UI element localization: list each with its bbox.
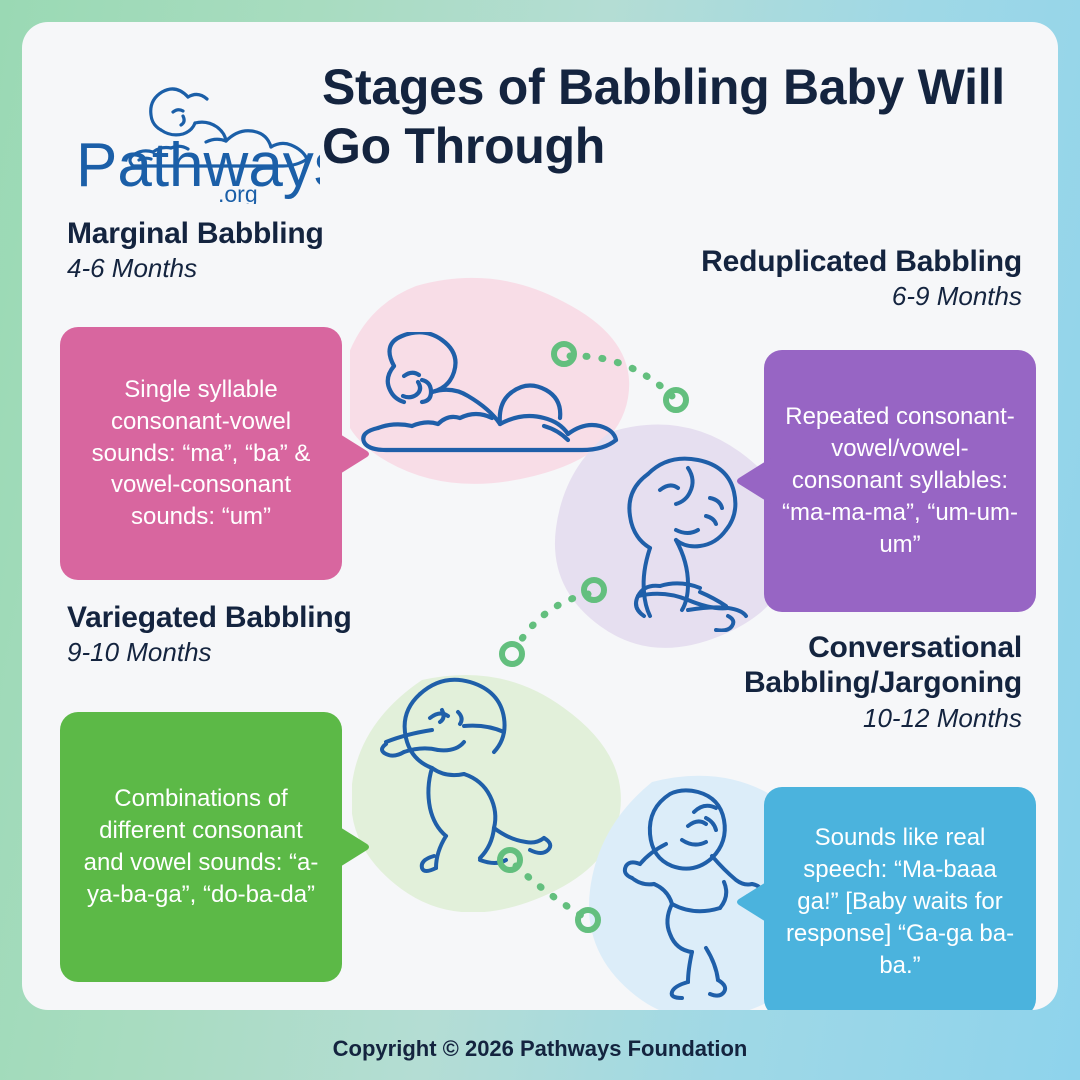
connector-1: [550, 338, 690, 418]
stage-age-marginal: 4-6 Months: [67, 251, 487, 286]
stage-name-reduplicated: Reduplicated Babbling: [582, 244, 1022, 279]
connector-3: [490, 840, 610, 940]
logo-wordmark: Pathways: [76, 131, 320, 200]
callout-variegated: Combinations of different consonant and …: [60, 712, 342, 982]
logo-suffix: .org: [218, 181, 258, 204]
pathways-logo[interactable]: Pathways .org: [70, 64, 320, 204]
infographic-card: Pathways .org Stages of Babbling Baby Wi…: [22, 22, 1058, 1010]
callout-text-conversational: Sounds like real speech: “Ma-baaa ga!” […: [782, 822, 1018, 982]
stage-name-conversational: Conversational Babbling/Jargoning: [622, 630, 1022, 701]
stage-heading-variegated: Variegated Babbling 9-10 Months: [67, 600, 507, 670]
stage-age-conversational: 10-12 Months: [622, 701, 1022, 736]
callout-text-reduplicated: Repeated consonant-vowel/vowel-consonant…: [782, 401, 1018, 561]
callout-text-marginal: Single syllable consonant-vowel sounds: …: [78, 374, 324, 534]
page-title: Stages of Babbling Baby Will Go Through: [322, 58, 1022, 175]
callout-text-variegated: Combinations of different consonant and …: [78, 783, 324, 911]
stage-heading-marginal: Marginal Babbling 4-6 Months: [67, 216, 487, 286]
stage-name-variegated: Variegated Babbling: [67, 600, 507, 635]
callout-marginal: Single syllable consonant-vowel sounds: …: [60, 327, 342, 580]
copyright-footer: Copyright © 2026 Pathways Foundation: [0, 1036, 1080, 1062]
stage-heading-reduplicated: Reduplicated Babbling 6-9 Months: [582, 244, 1022, 314]
stage-name-marginal: Marginal Babbling: [67, 216, 487, 251]
callout-conversational: Sounds like real speech: “Ma-baaa ga!” […: [764, 787, 1036, 1010]
callout-reduplicated: Repeated consonant-vowel/vowel-consonant…: [764, 350, 1036, 612]
stage-age-variegated: 9-10 Months: [67, 635, 507, 670]
stage-age-reduplicated: 6-9 Months: [582, 279, 1022, 314]
stage-heading-conversational: Conversational Babbling/Jargoning 10-12 …: [622, 630, 1022, 736]
bubble-tail-icon: [737, 873, 771, 931]
connector-2: [490, 570, 610, 670]
bubble-tail-icon: [335, 425, 369, 483]
bubble-tail-icon: [737, 452, 771, 510]
bubble-tail-icon: [335, 818, 369, 876]
